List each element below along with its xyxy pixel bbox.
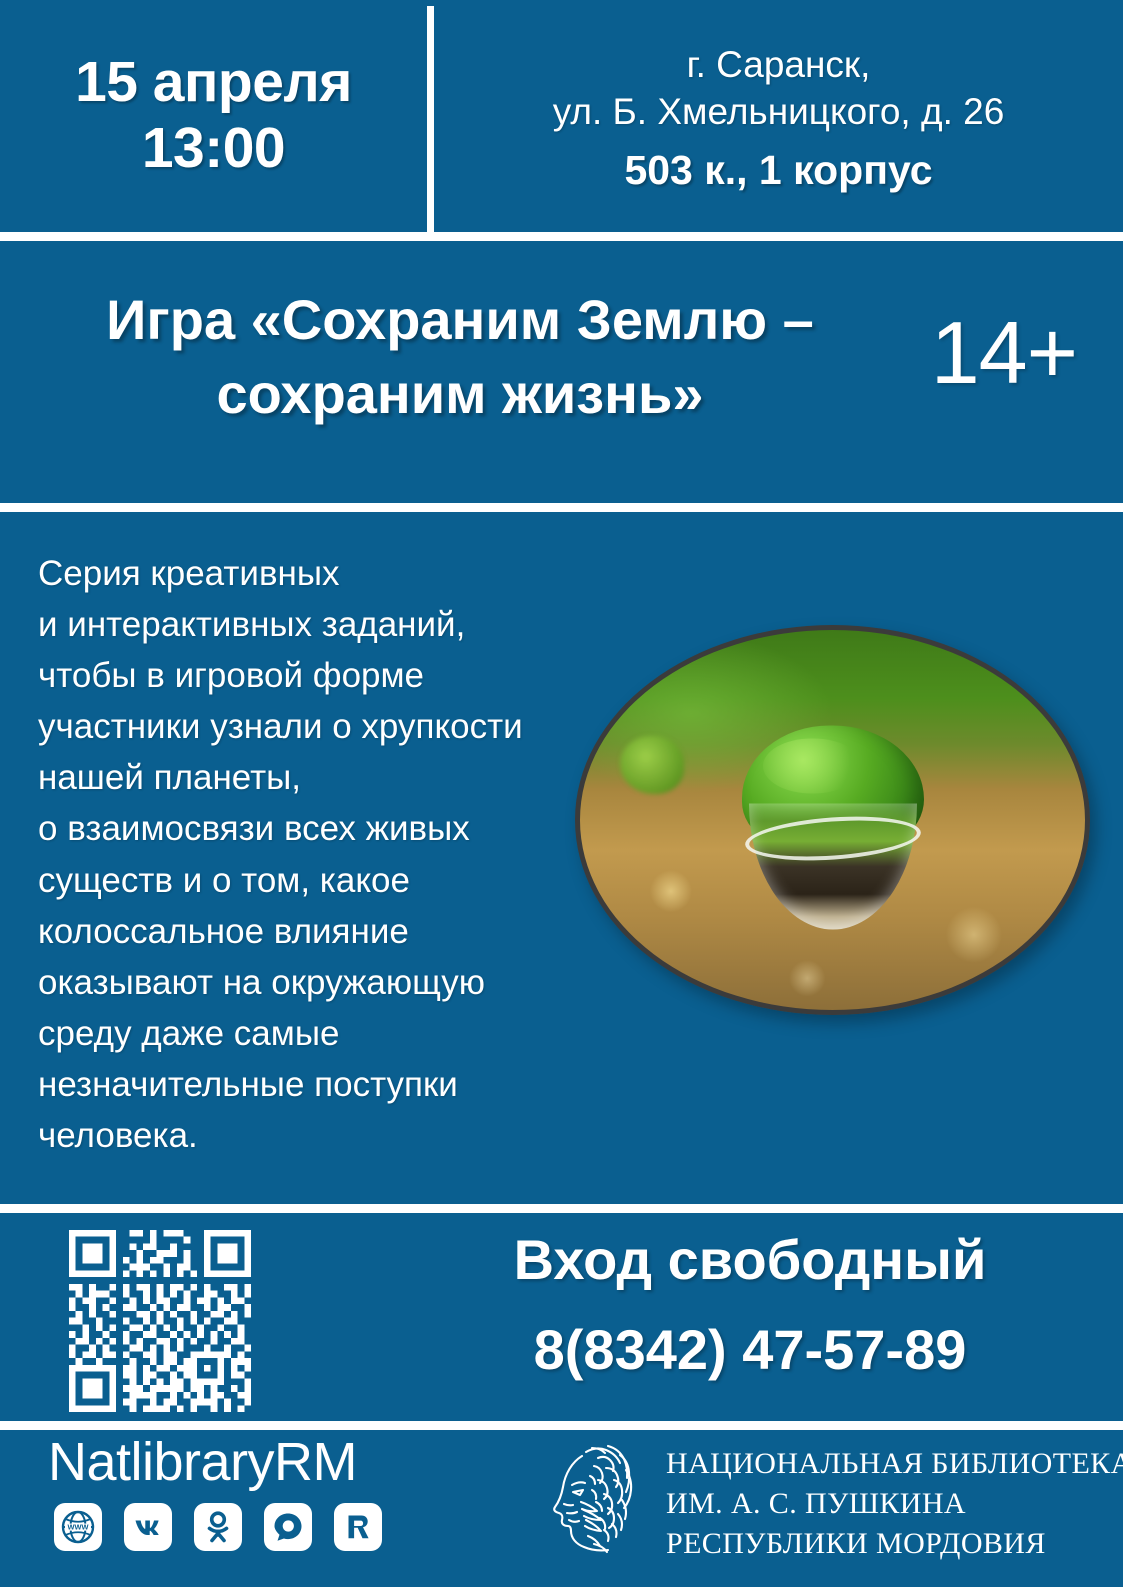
phone-number[interactable]: 8(8342) 47-57-89 <box>420 1317 1080 1383</box>
separator-line-3 <box>0 1204 1123 1213</box>
photo-background-shrub <box>620 736 684 794</box>
contact-band: Вход свободный 8(8342) 47-57-89 <box>0 1213 1123 1421</box>
event-description: Серия креативных и интерактивных заданий… <box>38 548 598 1161</box>
odnoklassniki-icon[interactable] <box>194 1503 242 1551</box>
description-line: участники узнали о хрупкости <box>38 701 598 752</box>
organization-name: НАЦИОНАЛЬНАЯ БИБЛИОТЕКА ИМ. А. С. ПУШКИН… <box>666 1444 1123 1565</box>
age-rating-badge: 14+ <box>931 309 1077 397</box>
venue-room: 503 к., 1 корпус <box>624 146 932 195</box>
svg-text:WWW: WWW <box>68 1522 89 1531</box>
description-line: человека. <box>38 1110 598 1161</box>
venue-block: г. Саранск, ул. Б. Хмельницкого, д. 26 5… <box>434 0 1123 232</box>
description-line: и интерактивных заданий, <box>38 599 598 650</box>
page-title: Игра «Сохраним Землю – сохраним жизнь» <box>20 283 900 431</box>
description-line: нашей планеты, <box>38 752 598 803</box>
separator-line-1 <box>0 232 1123 241</box>
venue-street: ул. Б. Хмельницкого, д. 26 <box>553 88 1005 135</box>
organization-block: НАЦИОНАЛЬНАЯ БИБЛИОТЕКА ИМ. А. С. ПУШКИН… <box>548 1440 1123 1568</box>
venue-city: г. Саранск, <box>687 41 871 88</box>
event-poster: 15 апреля 13:00 г. Саранск, ул. Б. Хмель… <box>0 0 1123 1587</box>
title-line-1: Игра «Сохраним Землю – <box>106 288 814 351</box>
date-time-block: 15 апреля 13:00 <box>0 0 427 232</box>
description-line: колоссальное влияние <box>38 906 598 957</box>
tree-in-glass-sphere-photo <box>575 625 1090 1015</box>
description-line: существ и о том, какое <box>38 855 598 906</box>
description-line: чтобы в игровой форме <box>38 650 598 701</box>
vk-icon[interactable] <box>124 1503 172 1551</box>
brand-block: NatlibraryRM WWW <box>48 1434 468 1551</box>
description-line: среду даже самые <box>38 1008 598 1059</box>
poster-header: 15 апреля 13:00 г. Саранск, ул. Б. Хмель… <box>0 0 1123 232</box>
description-line: оказывают на окружающую <box>38 957 598 1008</box>
qr-code[interactable] <box>62 1223 258 1419</box>
org-line-2: ИМ. А. С. ПУШКИНА <box>666 1484 1123 1524</box>
entry-info-block: Вход свободный 8(8342) 47-57-89 <box>420 1227 1080 1383</box>
org-line-3: РЕСПУБЛИКИ МОРДОВИЯ <box>666 1524 1123 1564</box>
description-line: Серия креативных <box>38 548 598 599</box>
event-time: 13:00 <box>142 117 285 181</box>
event-date: 15 апреля <box>75 51 352 115</box>
photo-sphere-group <box>728 725 938 930</box>
pushkin-profile-logo-icon <box>548 1440 648 1568</box>
org-line-1: НАЦИОНАЛЬНАЯ БИБЛИОТЕКА <box>666 1444 1123 1484</box>
description-line: о взаимосвязи всех живых <box>38 803 598 854</box>
telegram-chat-icon[interactable] <box>264 1503 312 1551</box>
separator-line-4 <box>0 1421 1123 1430</box>
poster-footer: NatlibraryRM WWW <box>0 1430 1123 1587</box>
description-line: незначительные поступки <box>38 1059 598 1110</box>
header-vertical-divider <box>427 6 434 232</box>
body-band: Серия креативных и интерактивных заданий… <box>0 512 1123 1204</box>
social-links-row: WWW <box>54 1503 468 1551</box>
rutube-icon[interactable] <box>334 1503 382 1551</box>
brand-name: NatlibraryRM <box>48 1434 468 1491</box>
separator-line-2 <box>0 503 1123 512</box>
free-entry-text: Вход свободный <box>420 1227 1080 1293</box>
title-band: Игра «Сохраним Землю – сохраним жизнь» 1… <box>0 241 1123 503</box>
website-www-icon[interactable]: WWW <box>54 1503 102 1551</box>
title-line-2: сохраним жизнь» <box>216 362 703 425</box>
